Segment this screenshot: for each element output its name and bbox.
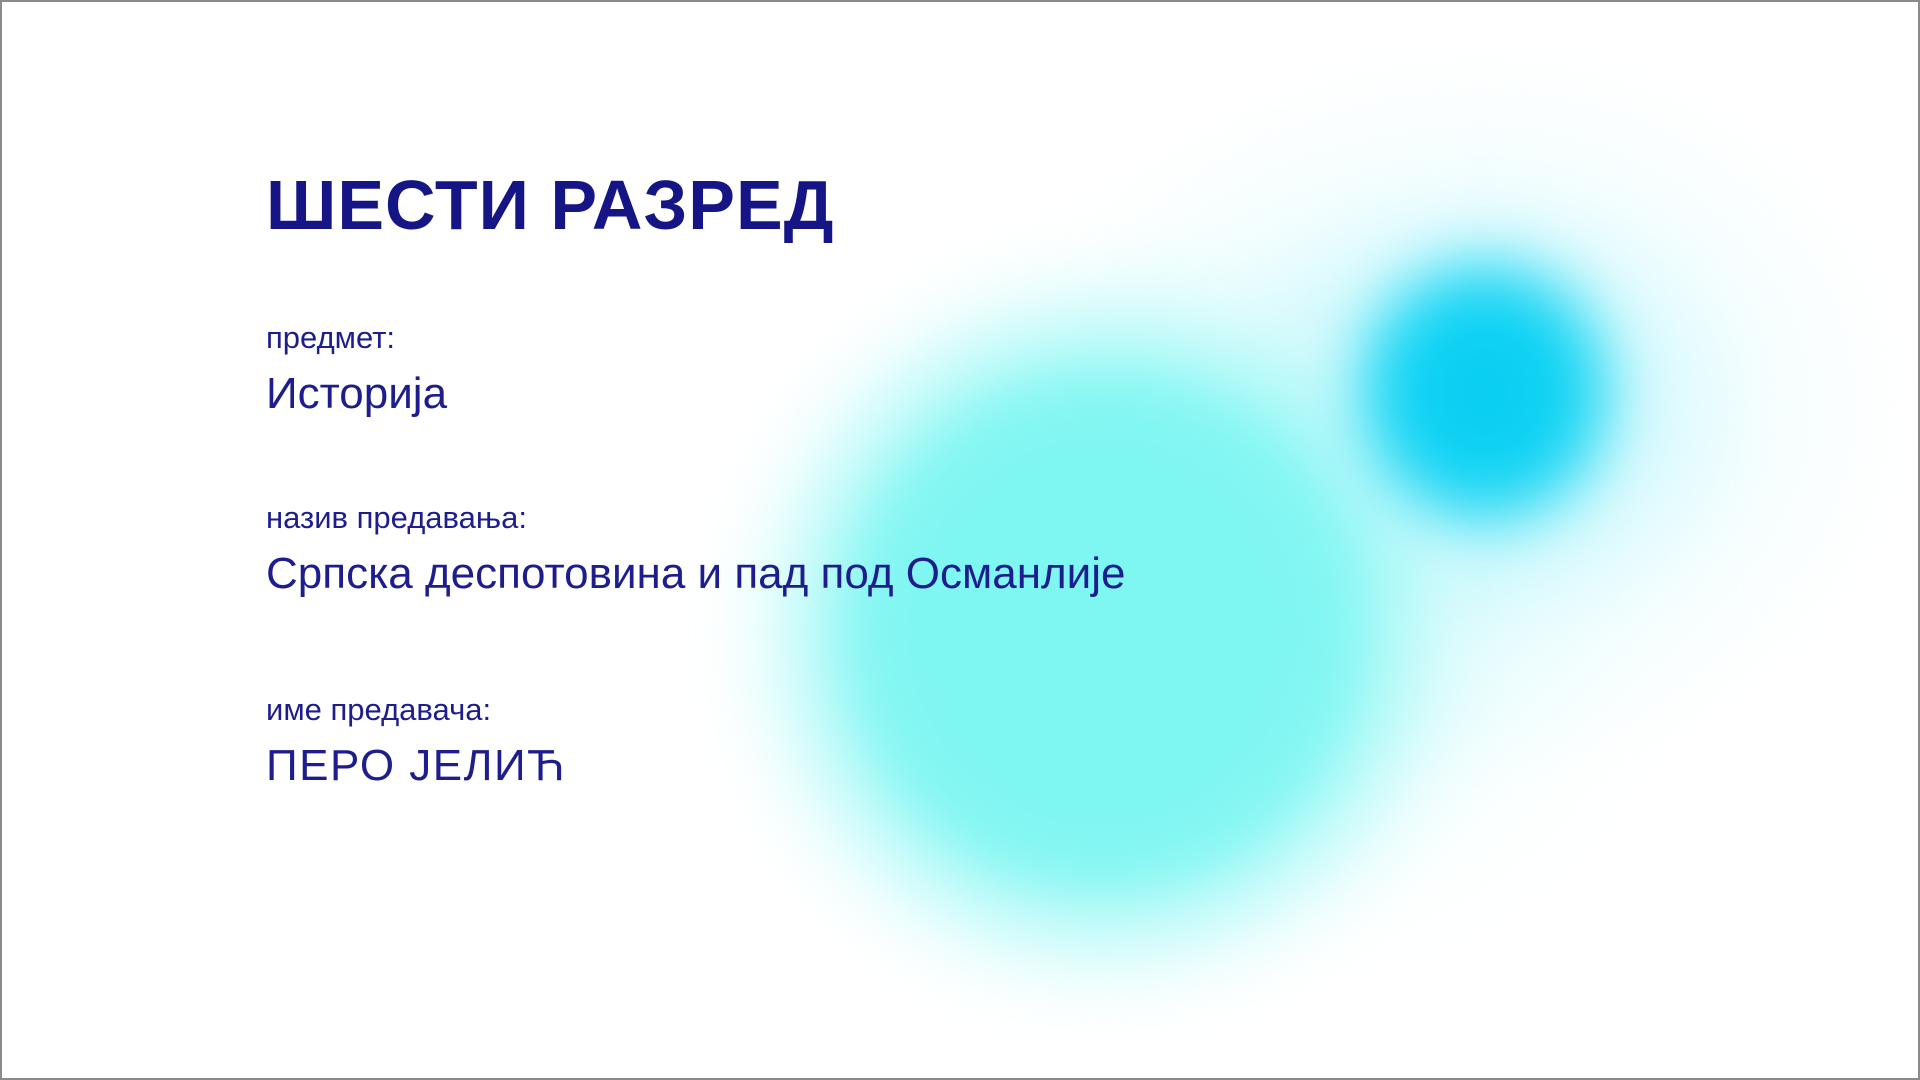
field-subject-value: Историја [266,370,447,418]
title-slide: ШЕСТИ РАЗРЕД предмет: Историја назив пре… [0,0,1920,1080]
field-lecturer-name-value: ПЕРО ЈЕЛИЋ [266,742,566,790]
page-title: ШЕСТИ РАЗРЕД [266,170,835,240]
field-lecture-title-value: Српска деспотовина и пад под Османлије [266,550,1126,598]
field-subject: предмет: Историја [266,320,447,418]
field-lecture-title-label: назив предавања: [266,500,1126,536]
slide-content: ШЕСТИ РАЗРЕД предмет: Историја назив пре… [266,2,1516,1078]
field-subject-label: предмет: [266,320,447,356]
field-lecturer-name: име предавача: ПЕРО ЈЕЛИЋ [266,692,566,790]
field-lecturer-name-label: име предавача: [266,692,566,728]
field-lecture-title: назив предавања: Српска деспотовина и па… [266,500,1126,598]
